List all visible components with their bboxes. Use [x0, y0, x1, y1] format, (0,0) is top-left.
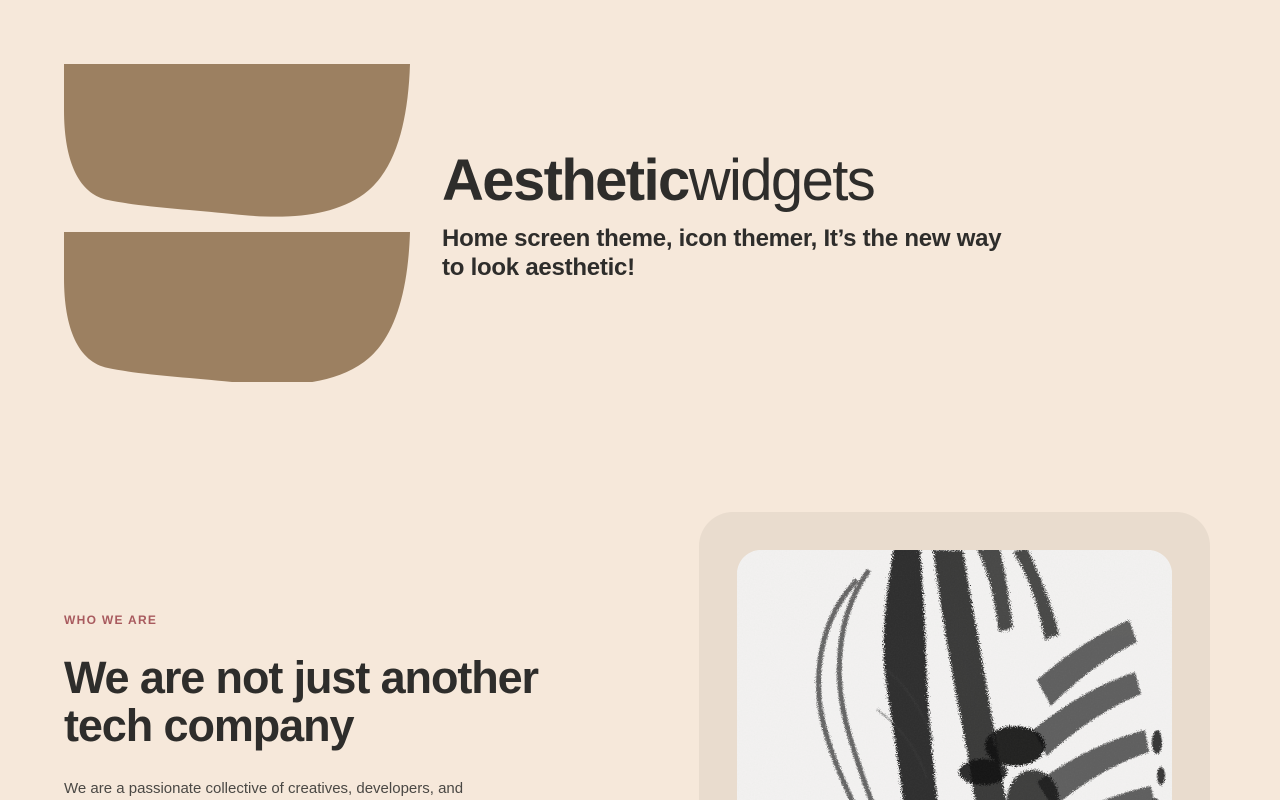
page-title-light: widgets	[689, 148, 874, 213]
brand-text-block: Aestheticwidgets Home screen theme, icon…	[442, 148, 1062, 282]
about-heading: We are not just another tech company	[64, 654, 564, 750]
about-section: WHO WE ARE We are not just another tech …	[64, 612, 624, 800]
page-title: Aestheticwidgets	[442, 148, 1062, 214]
artwork-frame	[699, 512, 1210, 800]
page-title-strong: Aesthetic	[442, 148, 689, 213]
about-body-text: We are a passionate collective of creati…	[64, 776, 534, 800]
about-eyebrow-label: WHO WE ARE	[64, 612, 624, 628]
artwork-image	[737, 550, 1172, 800]
hero-section: Aestheticwidgets Home screen theme, icon…	[0, 0, 1280, 470]
brand-tagline: Home screen theme, icon themer, It’s the…	[442, 224, 1022, 282]
stacked-bowls-logo	[64, 64, 410, 382]
